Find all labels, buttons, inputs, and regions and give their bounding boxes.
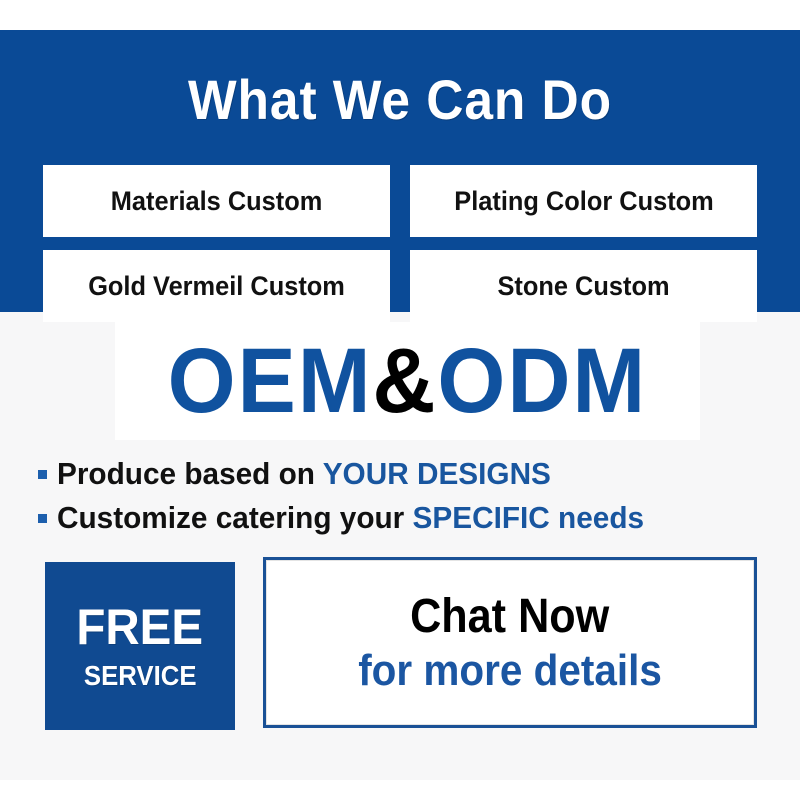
chip-gold-vermeil-custom[interactable]: Gold Vermeil Custom [43,250,390,322]
chip-label: Gold Vermeil Custom [88,271,345,302]
list-item: Produce based on YOUR DESIGNS [38,452,758,496]
chat-now-inner: Chat Now for more details [266,560,754,725]
chip-plating-color-custom[interactable]: Plating Color Custom [410,165,757,237]
chat-now-button[interactable]: Chat Now for more details [263,557,757,728]
service-label: SERVICE [84,662,197,690]
chip-label: Stone Custom [497,271,669,302]
oem-odm-heading: OEM&ODM [168,335,647,427]
chat-now-title: Chat Now [410,593,609,641]
bullet-text: Produce based on YOUR DESIGNS [57,456,551,492]
bullet-highlight-text: SPECIFIC needs [413,500,645,535]
chip-label: Plating Color Custom [454,186,713,217]
square-bullet-icon [38,470,47,479]
free-service-badge: FREE SERVICE [45,562,235,730]
chip-materials-custom[interactable]: Materials Custom [43,165,390,237]
oem-odm-banner: OEM&ODM [115,322,700,440]
ampersand-glyph: & [373,330,438,432]
free-label: FREE [77,602,204,652]
odm-text: ODM [438,330,648,432]
list-item: Customize catering your SPECIFIC needs [38,496,758,540]
bullet-highlight-text: YOUR DESIGNS [323,456,551,491]
page-title: What We Can Do [32,72,768,128]
promotional-banner: What We Can Do Materials Custom Plating … [0,0,800,800]
chip-stone-custom[interactable]: Stone Custom [410,250,757,322]
capability-chip-grid: Materials Custom Plating Color Custom Go… [43,165,757,322]
feature-bullet-list: Produce based on YOUR DESIGNS Customize … [38,452,758,540]
header-panel: What We Can Do Materials Custom Plating … [0,30,800,312]
bullet-plain-text: Customize catering your [57,500,413,535]
chat-now-subtitle: for more details [358,649,662,693]
oem-text: OEM [168,330,373,432]
top-white-strip [0,0,800,30]
square-bullet-icon [38,514,47,523]
chip-label: Materials Custom [111,186,323,217]
bottom-white-strip [0,780,800,800]
bullet-text: Customize catering your SPECIFIC needs [57,500,644,536]
bullet-plain-text: Produce based on [57,456,323,491]
